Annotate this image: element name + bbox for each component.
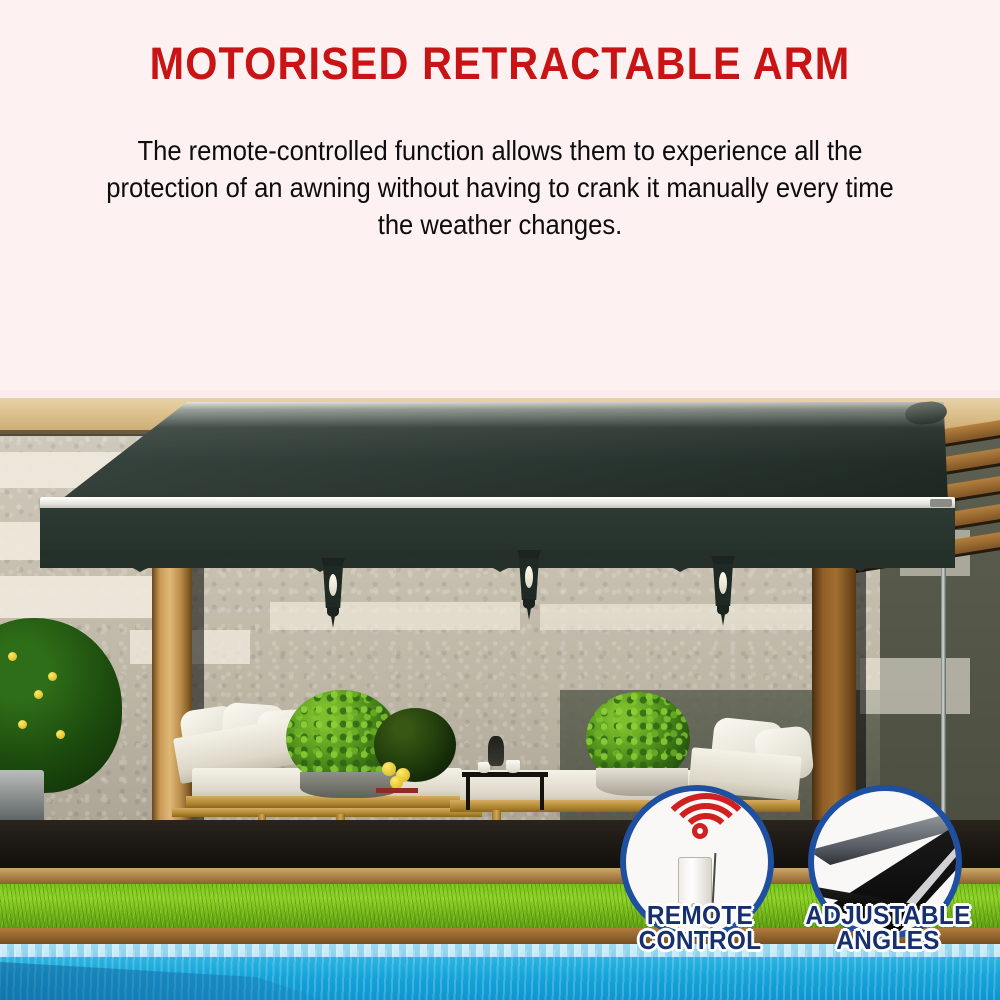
retractable-awning (0, 390, 1000, 590)
shrub-planter (300, 772, 400, 798)
decorative-lantern (488, 736, 504, 766)
lemon-fruit (56, 730, 65, 739)
badge-label-line2: ANGLES (836, 925, 940, 955)
awning-scalloped-hem (40, 550, 955, 576)
sun-patch (860, 658, 970, 714)
side-table (462, 772, 548, 777)
wall-lantern (320, 558, 346, 632)
daybed-frame (186, 796, 476, 808)
fruit (382, 762, 396, 776)
sun-patch (540, 604, 840, 630)
product-feature-image: MOTORISED RETRACTABLE ARM The remote-con… (0, 0, 1000, 1000)
awning-front-bar-cap (930, 499, 952, 507)
lemon-fruit (18, 720, 27, 729)
header-band: MOTORISED RETRACTABLE ARM The remote-con… (0, 0, 1000, 390)
side-table-leg (540, 776, 544, 810)
sun-patch (270, 602, 520, 630)
side-table-leg (466, 776, 470, 810)
daybed-frame (172, 808, 482, 817)
badge-label-line2: CONTROL (639, 925, 762, 955)
awning-canopy-shading (58, 402, 948, 502)
wall-lantern (516, 550, 542, 624)
wall-lantern (710, 556, 736, 630)
fruit-tray (376, 788, 418, 793)
patio-scene-photo: REMOTE CONTROL ADJUSTABLE ANGLES (0, 390, 1000, 1000)
lemon-fruit (34, 690, 43, 699)
page-title: MOTORISED RETRACTABLE ARM (40, 38, 960, 90)
badge-label: REMOTE CONTROL (610, 903, 790, 953)
cup (506, 760, 520, 773)
page-subtitle: The remote-controlled function allows th… (91, 132, 909, 243)
lemon-fruit (48, 672, 57, 681)
badge-label: ADJUSTABLE ANGLES (798, 903, 978, 953)
lemon-fruit (8, 652, 17, 661)
signal-wave-icon (656, 793, 756, 893)
